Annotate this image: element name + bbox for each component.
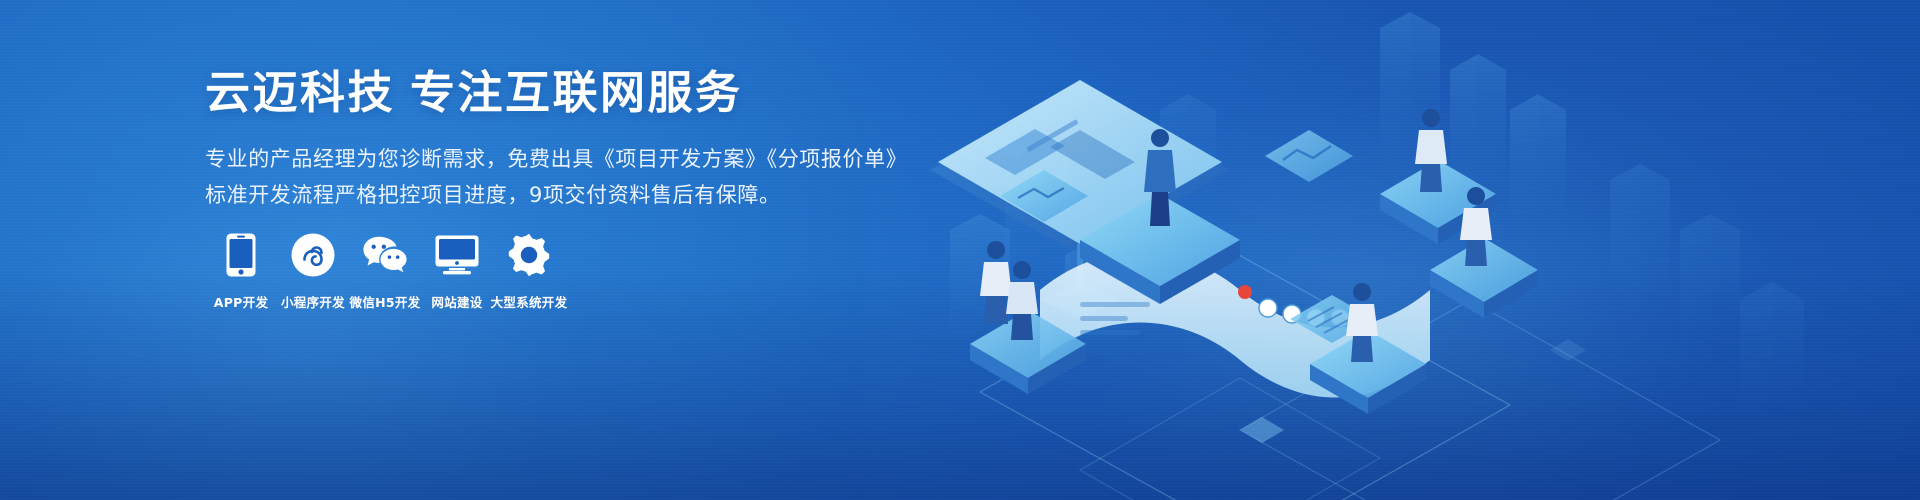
service-item-app[interactable]: APP开发 [205,232,277,311]
service-item-mini-program[interactable]: 小程序开发 [277,232,349,311]
service-list: APP开发 小程序开发 [205,232,565,311]
service-label-wechat-h5: 微信H5开发 [350,292,421,311]
hero-banner: 云迈科技 专注互联网服务 专业的产品经理为您诊断需求，免费出具《项目开发方案》《… [0,0,1920,500]
mini-program-icon [290,232,336,278]
hero-subcopy-line-1: 专业的产品经理为您诊断需求，免费出具《项目开发方案》《分项报价单》 [205,141,907,177]
service-label-website: 网站建设 [431,292,482,311]
hero-illustration [910,0,1920,500]
mobile-phone-icon [218,232,264,278]
wechat-icon [362,232,408,278]
gear-icon [506,232,552,278]
service-item-website[interactable]: 网站建设 [421,232,493,311]
service-label-large-system: 大型系统开发 [491,292,568,311]
isometric-illustration-svg [910,0,1920,500]
hero-subcopy: 专业的产品经理为您诊断需求，免费出具《项目开发方案》《分项报价单》 标准开发流程… [205,141,907,213]
service-label-mini-program: 小程序开发 [281,292,345,311]
alert-dot [1238,285,1252,299]
hero-text-block: 云迈科技 专注互联网服务 专业的产品经理为您诊断需求，免费出具《项目开发方案》《… [205,66,907,213]
service-label-app: APP开发 [214,292,269,311]
service-item-large-system[interactable]: 大型系统开发 [493,232,565,311]
service-item-wechat-h5[interactable]: 微信H5开发 [349,232,421,311]
chart-card-right [1265,130,1353,182]
monitor-icon [434,232,480,278]
hero-headline: 云迈科技 专注互联网服务 [205,66,907,119]
hero-subcopy-line-2: 标准开发流程严格把控项目进度，9项交付资料售后有保障。 [205,177,907,213]
